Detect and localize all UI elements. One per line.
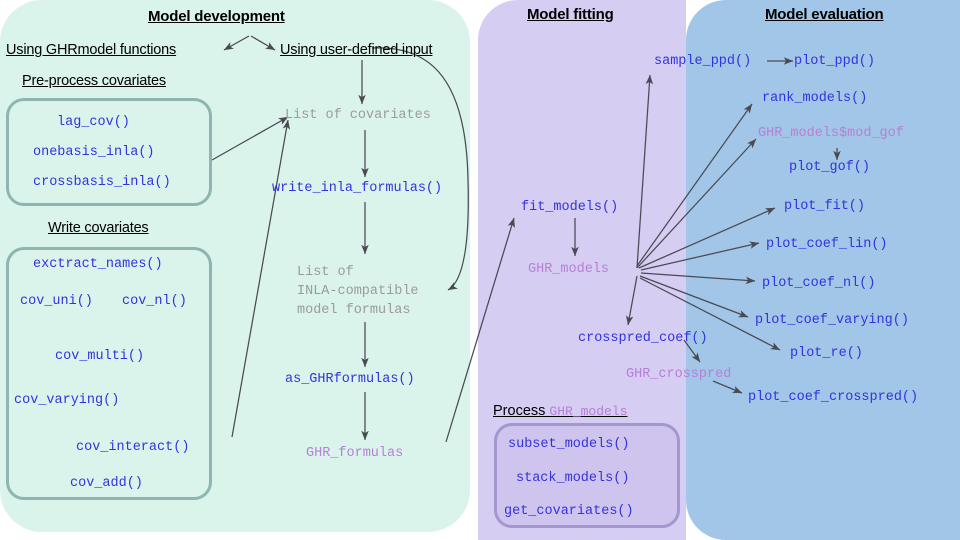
- fn-lag-cov[interactable]: lag_cov(): [57, 115, 130, 130]
- node-inla-formula-list-line2: INLA-compatible: [297, 282, 419, 302]
- panel-model-evaluation: [686, 0, 960, 540]
- fn-crosspred-coef[interactable]: crosspred_coef(): [578, 331, 708, 346]
- fn-cov-multi[interactable]: cov_multi(): [55, 349, 144, 364]
- title-model-development: Model development: [148, 8, 285, 25]
- fn-cov-varying[interactable]: cov_varying(): [14, 393, 119, 408]
- header-using-user-defined-input: Using user-defined input: [280, 42, 432, 58]
- fn-cov-uni[interactable]: cov_uni(): [20, 294, 93, 309]
- fn-cov-nl[interactable]: cov_nl(): [122, 294, 187, 309]
- header-using-ghrmodel-functions: Using GHRmodel functions: [6, 42, 176, 58]
- fn-write-inla-formulas[interactable]: write_inla_formulas(): [272, 181, 442, 196]
- fn-get-covariates[interactable]: get_covariates(): [504, 504, 634, 519]
- fn-plot-fit[interactable]: plot_fit(): [784, 199, 865, 214]
- fn-cov-interact[interactable]: cov_interact(): [76, 440, 189, 455]
- fn-plot-coef-varying[interactable]: plot_coef_varying(): [755, 313, 909, 328]
- fn-plot-coef-lin[interactable]: plot_coef_lin(): [766, 237, 888, 252]
- title-model-fitting: Model fitting: [527, 6, 614, 23]
- process-label-text: Process: [493, 403, 549, 419]
- diagram-canvas: Model development Model fitting Model ev…: [0, 0, 960, 540]
- node-ghr-formulas: GHR_formulas: [306, 446, 403, 461]
- fn-cov-add[interactable]: cov_add(): [70, 476, 143, 491]
- node-inla-formula-list-line3: model formulas: [297, 301, 410, 321]
- box-write-covariates: [6, 247, 212, 500]
- node-ghr-models-mod-gof: GHR_models$mod_gof: [758, 126, 904, 141]
- node-ghr-models: GHR_models: [528, 262, 609, 277]
- header-process-ghr-models: Process GHR_models: [493, 403, 627, 419]
- fn-exctract-names[interactable]: exctract_names(): [33, 257, 163, 272]
- header-pre-process-covariates: Pre-process covariates: [22, 73, 166, 89]
- fn-as-ghrformulas[interactable]: as_GHRformulas(): [285, 372, 415, 387]
- fn-rank-models[interactable]: rank_models(): [762, 91, 867, 106]
- fn-onebasis-inla[interactable]: onebasis_inla(): [33, 145, 155, 160]
- fn-plot-gof[interactable]: plot_gof(): [789, 160, 870, 175]
- process-label-object: GHR_models: [549, 404, 627, 419]
- fn-plot-ppd[interactable]: plot_ppd(): [794, 54, 875, 69]
- node-list-of-covariates: List of covariates: [285, 108, 431, 123]
- title-model-evaluation: Model evaluation: [765, 6, 884, 23]
- fn-fit-models[interactable]: fit_models(): [521, 200, 618, 215]
- fn-plot-coef-nl[interactable]: plot_coef_nl(): [762, 276, 875, 291]
- fn-sample-ppd[interactable]: sample_ppd(): [654, 54, 751, 69]
- fn-crossbasis-inla[interactable]: crossbasis_inla(): [33, 175, 171, 190]
- node-ghr-crosspred: GHR_crosspred: [626, 367, 731, 382]
- fn-plot-re[interactable]: plot_re(): [790, 346, 863, 361]
- header-write-covariates: Write covariates: [48, 220, 148, 236]
- fn-subset-models[interactable]: subset_models(): [508, 437, 630, 452]
- fn-plot-coef-crosspred[interactable]: plot_coef_crosspred(): [748, 390, 918, 405]
- fn-stack-models[interactable]: stack_models(): [516, 471, 629, 486]
- node-inla-formula-list-line1: List of: [297, 263, 354, 283]
